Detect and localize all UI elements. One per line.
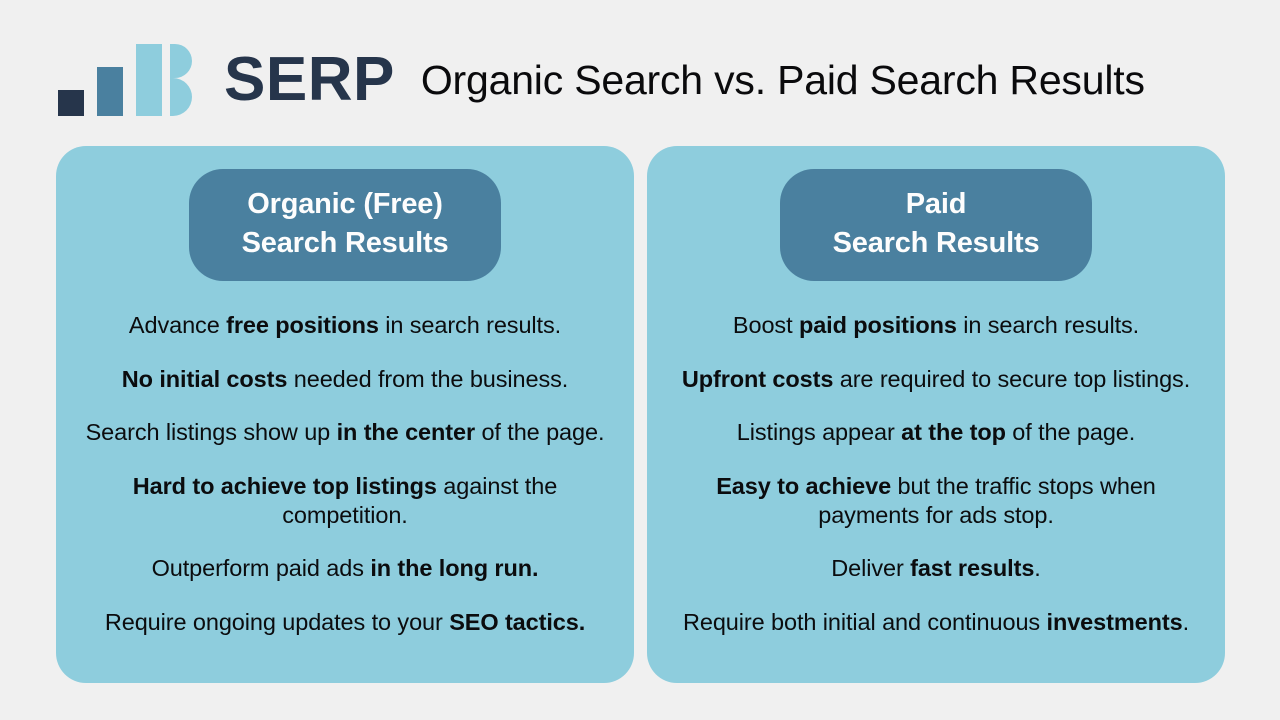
emphasis-text: No initial costs <box>122 366 288 392</box>
comparison-list-item: Deliver fast results. <box>671 554 1201 583</box>
slide-canvas: SERP Organic Search vs. Paid Search Resu… <box>0 0 1280 720</box>
comparison-list-item: Advance free positions in search results… <box>80 311 610 340</box>
comparison-list-item: Search listings show up in the center of… <box>80 418 610 447</box>
comparison-list-item: Upfront costs are required to secure top… <box>671 365 1201 394</box>
column-organic-heading: Organic (Free) Search Results <box>189 169 501 281</box>
comparison-list-item: Boost paid positions in search results. <box>671 311 1201 340</box>
comparison-list-item: Require both initial and continuous inve… <box>671 608 1201 637</box>
comparison-list-item: Listings appear at the top of the page. <box>671 418 1201 447</box>
slide-header: SERP Organic Search vs. Paid Search Resu… <box>58 34 1145 126</box>
emphasis-text: paid positions <box>799 312 957 338</box>
logo-letter-b-icon <box>170 44 192 116</box>
logo-b-lower-lobe <box>170 78 192 116</box>
emphasis-text: SEO tactics. <box>449 609 585 635</box>
column-organic: Organic (Free) Search Results Advance fr… <box>56 146 634 683</box>
brand-wordmark: SERP <box>194 49 395 111</box>
logo-bar-medium <box>97 67 123 116</box>
serp-bar-chart-b-logo-icon <box>58 44 168 116</box>
comparison-columns: Organic (Free) Search Results Advance fr… <box>56 146 1225 683</box>
comparison-list-item: Outperform paid ads in the long run. <box>80 554 610 583</box>
emphasis-text: Easy to achieve <box>716 473 891 499</box>
emphasis-text: in the center <box>337 419 475 445</box>
page-title: Organic Search vs. Paid Search Results <box>421 60 1145 101</box>
emphasis-text: free positions <box>226 312 379 338</box>
logo-bar-small <box>58 90 84 116</box>
column-paid: Paid Search Results Boost paid positions… <box>647 146 1225 683</box>
comparison-list-item: Hard to achieve top listings against the… <box>80 472 610 530</box>
emphasis-text: Hard to achieve top listings <box>133 473 437 499</box>
emphasis-text: fast results <box>910 555 1034 581</box>
emphasis-text: investments <box>1047 609 1183 635</box>
comparison-list-item: Easy to achieve but the traffic stops wh… <box>671 472 1201 530</box>
logo-b-upper-lobe <box>170 44 192 78</box>
column-organic-items: Advance free positions in search results… <box>74 281 616 663</box>
logo-bar-tall <box>136 44 162 116</box>
comparison-list-item: No initial costs needed from the busines… <box>80 365 610 394</box>
emphasis-text: at the top <box>901 419 1006 445</box>
emphasis-text: Upfront costs <box>682 366 833 392</box>
emphasis-text: in the long run. <box>370 555 538 581</box>
comparison-list-item: Require ongoing updates to your SEO tact… <box>80 608 610 637</box>
column-paid-heading: Paid Search Results <box>780 169 1092 281</box>
column-paid-items: Boost paid positions in search results.U… <box>665 281 1207 663</box>
